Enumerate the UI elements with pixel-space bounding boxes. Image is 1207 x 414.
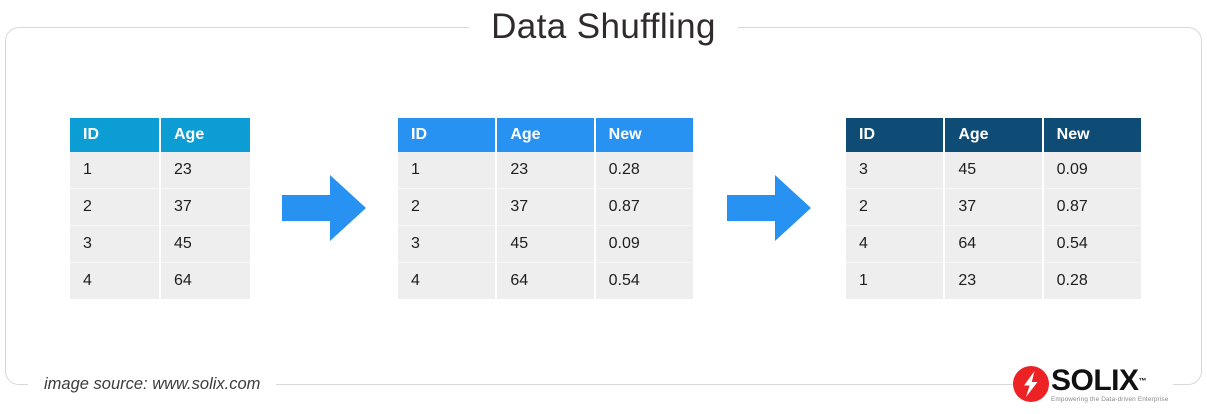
- cell-age: 64: [160, 263, 250, 300]
- arrow-right-icon: [282, 175, 366, 241]
- table-body: 1 23 2 37 3 45 4 64: [70, 152, 250, 299]
- table-header: ID Age: [70, 118, 250, 152]
- cell-new: 0.54: [1043, 226, 1141, 263]
- trademark-symbol: ™: [1139, 376, 1147, 385]
- table-row: 4 64 0.54: [846, 226, 1141, 263]
- table-header-row: ID Age New: [398, 118, 693, 152]
- cell-new: 0.87: [595, 189, 693, 226]
- cell-age: 23: [160, 152, 250, 189]
- table-header: ID Age New: [846, 118, 1141, 152]
- column-header-age: Age: [496, 118, 594, 152]
- table-row: 1 23 0.28: [846, 263, 1141, 300]
- table-row: 2 37 0.87: [846, 189, 1141, 226]
- table-header-row: ID Age: [70, 118, 250, 152]
- cell-age: 45: [496, 226, 594, 263]
- cell-id: 2: [846, 189, 944, 226]
- solix-lightning-bolt-icon: [1013, 366, 1049, 402]
- footer-caption-container: image source: www.solix.com: [28, 362, 276, 406]
- cell-id: 1: [846, 263, 944, 300]
- table-row: 2 37: [70, 189, 250, 226]
- table-row: 1 23: [70, 152, 250, 189]
- column-header-new: New: [1043, 118, 1141, 152]
- solix-wordmark-block: SOLIX™ Empowering the Data-driven Enterp…: [1051, 365, 1168, 404]
- cell-id: 4: [398, 263, 496, 300]
- cell-id: 4: [70, 263, 160, 300]
- column-header-id: ID: [846, 118, 944, 152]
- cell-new: 0.09: [595, 226, 693, 263]
- cell-age: 37: [160, 189, 250, 226]
- table-row: 3 45 0.09: [846, 152, 1141, 189]
- cell-id: 3: [398, 226, 496, 263]
- solix-wordmark: SOLIX: [1051, 364, 1139, 397]
- cell-new: 0.28: [595, 152, 693, 189]
- cell-age: 45: [160, 226, 250, 263]
- table-with-random-column: ID Age New 1 23 0.28 2 37 0.87 3 45 0.09: [398, 118, 693, 299]
- cell-id: 3: [846, 152, 944, 189]
- image-source-caption: image source: www.solix.com: [28, 362, 276, 406]
- table-body: 1 23 0.28 2 37 0.87 3 45 0.09 4 64 0.54: [398, 152, 693, 299]
- cell-id: 1: [398, 152, 496, 189]
- cell-age: 45: [944, 152, 1042, 189]
- cell-id: 4: [846, 226, 944, 263]
- solix-logo: SOLIX™ Empowering the Data-driven Enterp…: [1013, 360, 1173, 408]
- table-row: 1 23 0.28: [398, 152, 693, 189]
- cell-age: 64: [944, 226, 1042, 263]
- column-header-id: ID: [70, 118, 160, 152]
- cell-age: 37: [496, 189, 594, 226]
- table-row: 2 37 0.87: [398, 189, 693, 226]
- table-row: 3 45: [70, 226, 250, 263]
- cell-id: 1: [70, 152, 160, 189]
- column-header-new: New: [595, 118, 693, 152]
- table-row: 3 45 0.09: [398, 226, 693, 263]
- table-body: 3 45 0.09 2 37 0.87 4 64 0.54 1 23 0.28: [846, 152, 1141, 299]
- table-header: ID Age New: [398, 118, 693, 152]
- cell-new: 0.87: [1043, 189, 1141, 226]
- shuffled-table: ID Age New 3 45 0.09 2 37 0.87 4 64 0.54: [846, 118, 1141, 299]
- cell-id: 3: [70, 226, 160, 263]
- solix-tagline: Empowering the Data-driven Enterprise: [1051, 395, 1168, 404]
- cell-age: 64: [496, 263, 594, 300]
- solix-wordmark-line: SOLIX™: [1051, 366, 1168, 396]
- column-header-age: Age: [944, 118, 1042, 152]
- cell-id: 2: [398, 189, 496, 226]
- cell-age: 37: [944, 189, 1042, 226]
- table-header-row: ID Age New: [846, 118, 1141, 152]
- cell-age: 23: [496, 152, 594, 189]
- cell-new: 0.54: [595, 263, 693, 300]
- table-row: 4 64: [70, 263, 250, 300]
- arrow-right-icon: [727, 175, 811, 241]
- column-header-age: Age: [160, 118, 250, 152]
- table-row: 4 64 0.54: [398, 263, 693, 300]
- infographic-canvas: Data Shuffling ID Age 1 23 2 37 3 45 4: [0, 0, 1207, 414]
- cell-new: 0.09: [1043, 152, 1141, 189]
- column-header-id: ID: [398, 118, 496, 152]
- original-table: ID Age 1 23 2 37 3 45 4 64: [70, 118, 250, 299]
- cell-id: 2: [70, 189, 160, 226]
- cell-new: 0.28: [1043, 263, 1141, 300]
- cell-age: 23: [944, 263, 1042, 300]
